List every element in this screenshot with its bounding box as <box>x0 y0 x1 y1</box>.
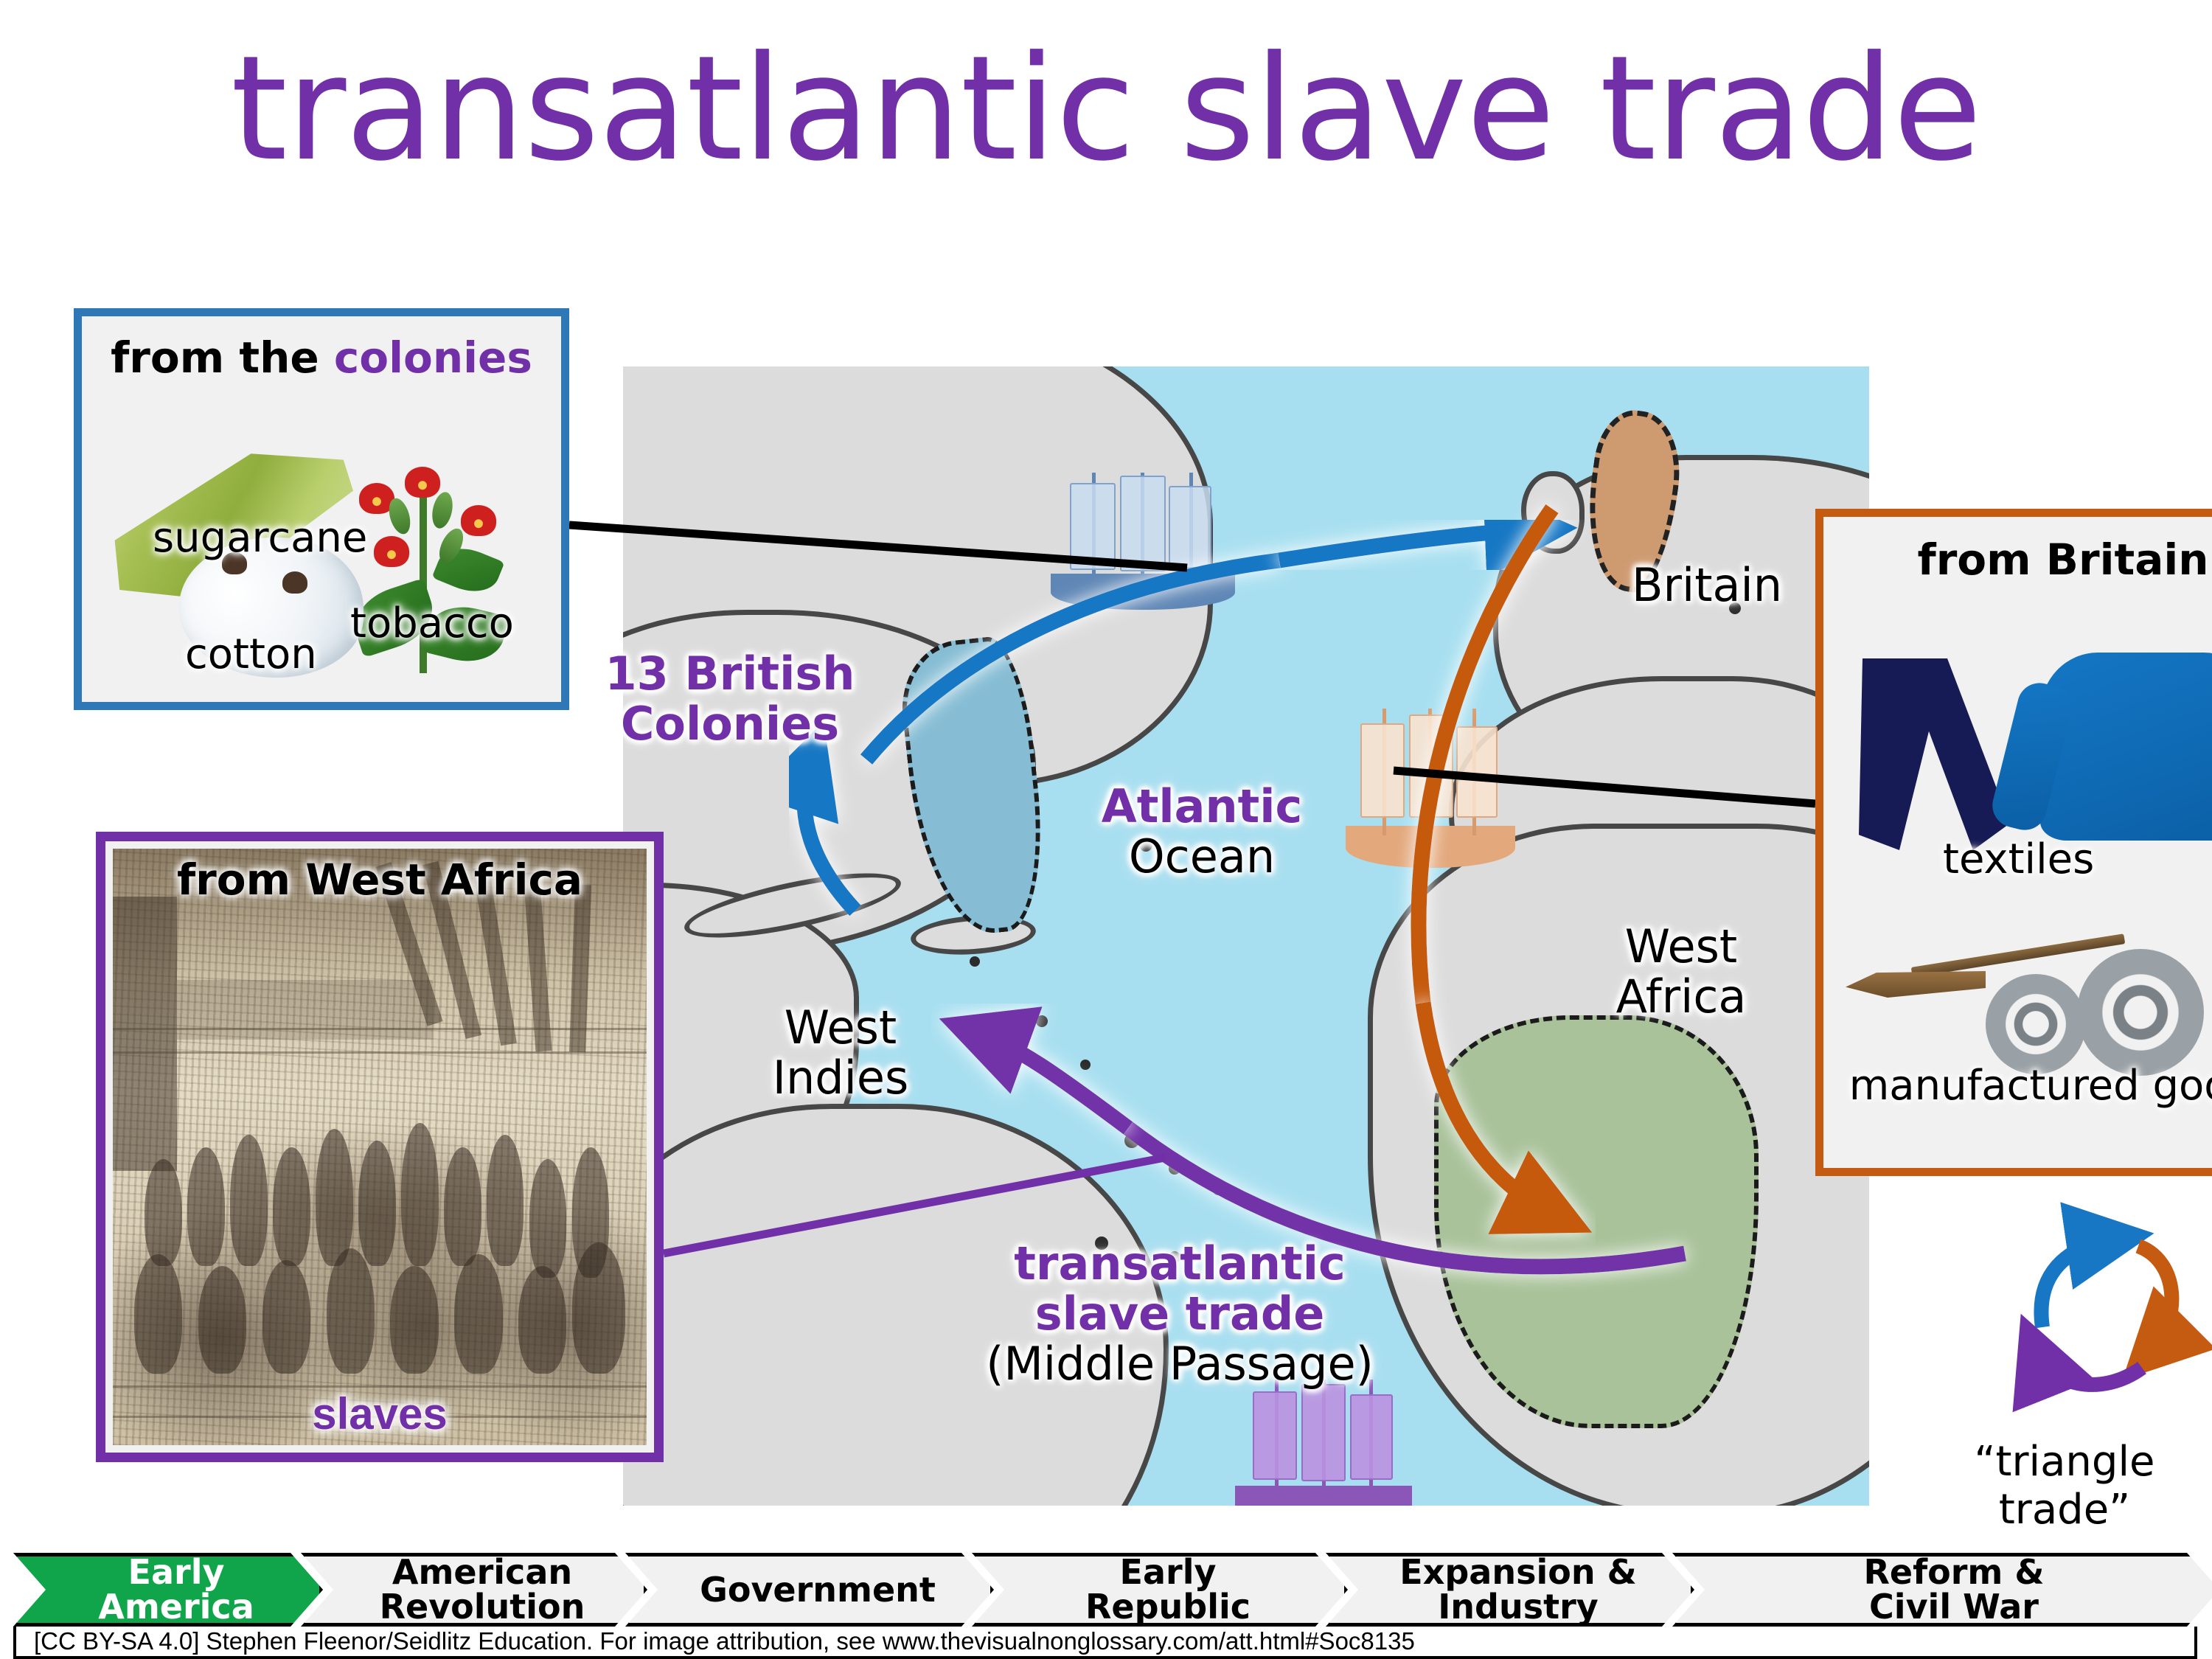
route-name-plain: (Middle Passage) <box>951 1339 1408 1389</box>
legend-caption: “triangle trade” <box>1917 1438 2212 1534</box>
atlantic-word: Atlantic <box>1054 782 1349 832</box>
west-africa-box-header: from West Africa <box>105 855 654 905</box>
ocean-word: Ocean <box>1054 832 1349 882</box>
map-label-west-indies: West Indies <box>730 1003 951 1103</box>
timeline-item-early-america[interactable]: Early America <box>13 1553 323 1627</box>
map-dot <box>970 956 980 967</box>
caption-slaves: slaves <box>105 1388 654 1439</box>
colonies-header-prefix: from the <box>111 333 334 383</box>
timeline-item-expansion-industry[interactable]: Expansion & Industry <box>1326 1553 1694 1627</box>
info-box-britain: from Britain textiles manufactured goods <box>1815 509 2212 1176</box>
landmass-ireland <box>1521 471 1585 554</box>
ship-purple-icon <box>1235 1377 1412 1506</box>
timeline-item-government[interactable]: Government <box>625 1553 994 1627</box>
timeline-item-american-revolution[interactable]: American Revolution <box>301 1553 647 1627</box>
gear-large-icon <box>2077 949 2204 1076</box>
ship-blue-icon <box>1051 470 1235 610</box>
timeline-nav[interactable]: Early America American Revolution Govern… <box>13 1553 2197 1627</box>
britain-box-header: from Britain <box>1834 535 2212 585</box>
colonies-box-header: from the colonies <box>92 333 551 383</box>
caption-manufactured-goods: manufactured goods <box>1834 1064 2212 1107</box>
page-title: transatlantic slave trade <box>0 34 2212 186</box>
timeline-item-early-republic[interactable]: Early Republic <box>972 1553 1348 1627</box>
map-dot <box>1080 1060 1091 1070</box>
info-box-colonies: from the colonies sugarcane tobacco cott… <box>74 308 569 710</box>
tobacco-icon <box>337 459 521 681</box>
attribution-text: [CC BY-SA 4.0] Stephen Fleenor/Seidlitz … <box>34 1627 1415 1655</box>
map-label-transatlantic-slave-trade: transatlantic slave trade (Middle Passag… <box>951 1239 1408 1390</box>
map-dot <box>1036 1015 1048 1027</box>
map-dot <box>1169 1163 1180 1175</box>
info-box-west-africa: from West Africa slaves <box>96 832 664 1462</box>
map-label-britain: Britain <box>1585 560 1829 611</box>
sweater-icon <box>2040 653 2212 841</box>
map-dot <box>1124 1133 1139 1148</box>
attribution-bar: [CC BY-SA 4.0] Stephen Fleenor/Seidlitz … <box>13 1627 2197 1659</box>
timeline-item-reform-civil-war[interactable]: Reform & Civil War <box>1672 1553 2212 1627</box>
map-label-west-africa: West Africa <box>1563 922 1799 1022</box>
map-label-13-colonies: 13 British Colonies <box>575 649 885 749</box>
colonies-header-accent: colonies <box>334 333 532 383</box>
map-label-atlantic-ocean: Atlantic Ocean <box>1054 782 1349 882</box>
caption-tobacco: tobacco <box>350 599 514 647</box>
caption-textiles: textiles <box>1943 835 2094 883</box>
map-dot <box>1213 1185 1223 1195</box>
caption-sugarcane: sugarcane <box>153 514 367 562</box>
ship-orange-icon <box>1346 706 1515 868</box>
region-west-africa <box>1434 1015 1759 1428</box>
triangle-trade-legend: “triangle trade” <box>1917 1224 2212 1489</box>
route-name-accent: transatlantic slave trade <box>951 1239 1408 1339</box>
slave-ship-hold-engraving <box>113 849 647 1445</box>
caption-cotton: cotton <box>185 630 317 678</box>
